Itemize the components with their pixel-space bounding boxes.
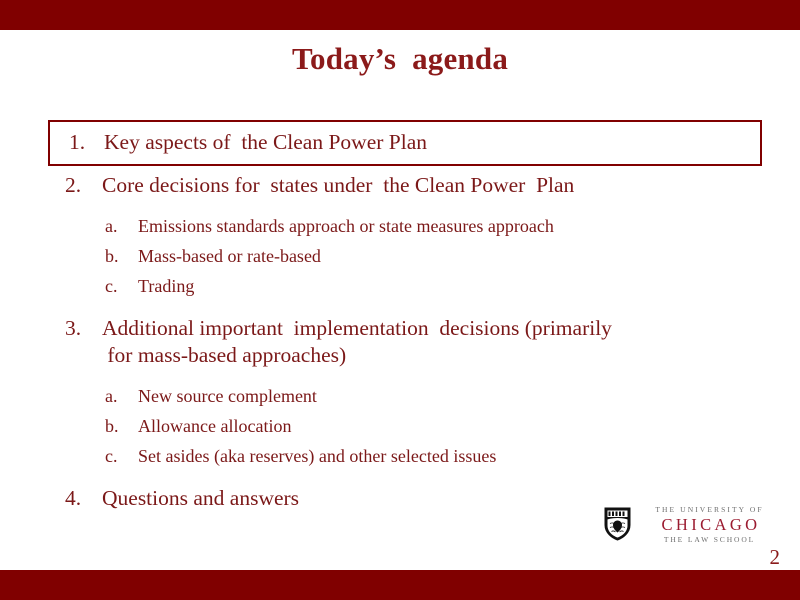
agenda-item-2c-text: Trading — [138, 276, 194, 296]
agenda-item-2a: a. Emissions standards approach or state… — [48, 214, 748, 238]
agenda-item-3a: a. New source complement — [48, 384, 748, 408]
university-shield-crest-icon — [604, 507, 631, 541]
agenda-item-3c-number: c. — [105, 444, 118, 468]
top-decorative-bar — [0, 0, 800, 30]
agenda-item-3-text: Additional important implementation deci… — [102, 315, 748, 369]
agenda-item-1-number: 1. — [69, 129, 85, 156]
slide-canvas: Today’s agenda 1. Key aspects of the Cle… — [0, 0, 800, 600]
agenda-item-2-text: Core decisions for states under the Clea… — [102, 172, 748, 199]
page-number: 2 — [770, 545, 781, 570]
agenda-item-2a-number: a. — [105, 214, 118, 238]
agenda-item-3b: b. Allowance allocation — [48, 414, 748, 438]
logo-line-chicago: CHICAGO — [637, 515, 782, 534]
agenda-item-2b-number: b. — [105, 244, 119, 268]
spacer — [48, 304, 748, 315]
spacer — [48, 474, 748, 485]
agenda-list: 1. Key aspects of the Clean Power Plan 2… — [48, 120, 748, 514]
agenda-item-3c: c. Set asides (aka reserves) and other s… — [48, 444, 748, 468]
agenda-item-2-number: 2. — [65, 172, 81, 199]
agenda-item-3b-text: Allowance allocation — [138, 416, 291, 436]
agenda-item-2b-text: Mass-based or rate-based — [138, 246, 321, 266]
university-logo-text: THE UNIVERSITY OF CHICAGO THE LAW SCHOOL — [637, 505, 782, 545]
agenda-item-3a-number: a. — [105, 384, 118, 408]
agenda-item-2: 2. Core decisions for states under the C… — [48, 172, 748, 199]
agenda-item-3: 3. Additional important implementation d… — [48, 315, 748, 369]
logo-line-university: THE UNIVERSITY OF — [637, 505, 782, 515]
spacer — [48, 201, 748, 208]
university-logo: THE UNIVERSITY OF CHICAGO THE LAW SCHOOL — [604, 505, 780, 553]
page-title: Today’s agenda — [0, 41, 800, 77]
agenda-item-3-number: 3. — [65, 315, 81, 342]
agenda-item-2c: c. Trading — [48, 274, 748, 298]
agenda-item-2a-text: Emissions standards approach or state me… — [138, 216, 554, 236]
agenda-item-4-number: 4. — [65, 485, 81, 512]
spacer — [48, 371, 748, 378]
agenda-item-3c-text: Set asides (aka reserves) and other sele… — [138, 446, 496, 466]
agenda-item-3b-number: b. — [105, 414, 119, 438]
agenda-item-2c-number: c. — [105, 274, 118, 298]
bottom-decorative-bar — [0, 570, 800, 600]
agenda-item-1: 1. Key aspects of the Clean Power Plan — [48, 120, 762, 166]
agenda-item-2b: b. Mass-based or rate-based — [48, 244, 748, 268]
agenda-item-1-text: Key aspects of the Clean Power Plan — [104, 129, 760, 156]
logo-line-law-school: THE LAW SCHOOL — [637, 534, 782, 545]
agenda-item-3a-text: New source complement — [138, 386, 317, 406]
